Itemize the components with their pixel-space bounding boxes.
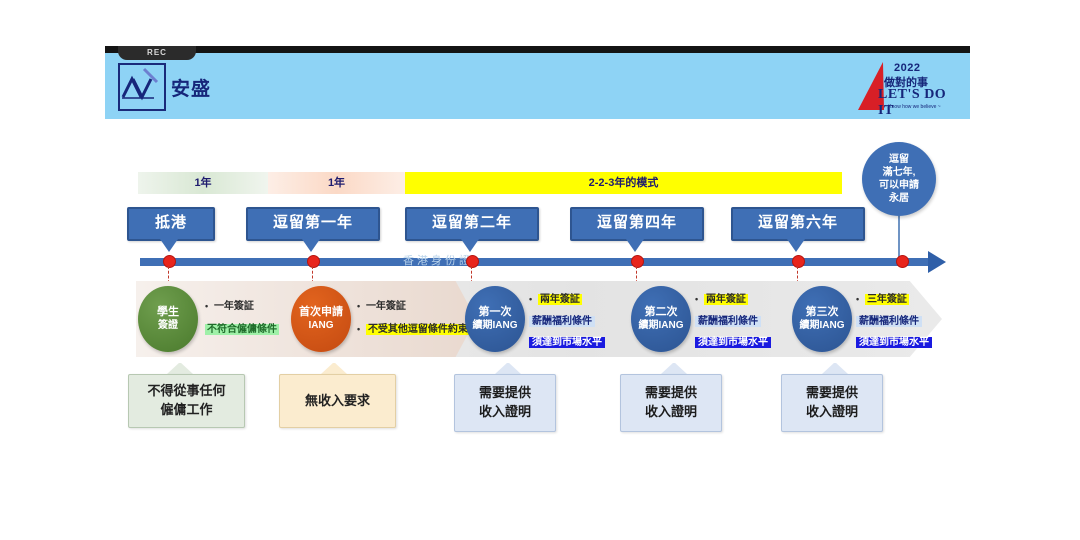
phase-3-bullet-3: 須達到市場水平	[529, 333, 605, 348]
phase-4-bullet-2: 薪酬福利條件	[695, 312, 761, 327]
phase-ellipse-3-line1: 第一次	[479, 306, 512, 320]
phase-1-bullet-2: 不符合僱傭條件	[205, 320, 279, 335]
phase-1-bullet-1-text: 一年簽証	[214, 301, 254, 312]
phase-1-bullet-1: • 一年簽証	[205, 297, 254, 312]
phase-ellipse-5-line1: 第三次	[806, 306, 839, 320]
phase-ellipse-2-line1: 首次申請	[299, 306, 343, 320]
bullet-dot-icon: •	[205, 301, 208, 311]
phase-2-bullet-1: • 一年簽証	[357, 297, 406, 312]
bullet-dot-icon: •	[695, 294, 698, 304]
bullet-dot-icon: •	[357, 301, 360, 311]
callout-2: 無收入要求	[279, 374, 396, 428]
phase-5-bullet-1-text: 三年簽証	[865, 294, 909, 305]
phase-ellipse-1-line1: 學生	[157, 306, 179, 320]
milestone-box-3[interactable]: 逗留第二年	[405, 207, 539, 241]
phase-4-bullet-1: • 兩年簽証	[695, 290, 748, 305]
phase-2-bullet-1-text: 一年簽証	[366, 301, 406, 312]
slide-canvas: REC 安盛 2022 做對的事 LET'S DO IT ~ Know how …	[0, 0, 1080, 540]
year-segment-2: 1年	[268, 172, 405, 194]
year-segment-3-label: 2-2-3年的模式	[405, 172, 842, 194]
final-circle-line-1: 逗留	[889, 153, 909, 166]
timeline-dot-4	[631, 255, 644, 268]
year-segment-3: 2-2-3年的模式	[405, 172, 842, 194]
timeline-arrowhead-icon	[928, 251, 946, 273]
phase-ellipse-5[interactable]: 第三次 續期IANG	[792, 286, 852, 352]
timeline-axis	[140, 258, 930, 266]
milestone-arrow-3-icon	[461, 239, 479, 252]
phase-3-bullet-1-text: 兩年簽証	[538, 294, 582, 305]
callout-5: 需要提供 收入證明	[781, 374, 883, 432]
milestone-arrow-4-icon	[626, 239, 644, 252]
phase-3-bullet-1: • 兩年簽証	[529, 290, 582, 305]
recording-top-strip	[105, 46, 970, 53]
final-circle-line-2: 滿七年,	[883, 166, 916, 179]
callout-1: 不得從事任何 僱傭工作	[128, 374, 245, 428]
phase-ellipse-2[interactable]: 首次申請 IANG	[291, 286, 351, 352]
phase-4-bullet-3: 須達到市場水平	[695, 333, 771, 348]
phase-5-bullet-3: 須達到市場水平	[856, 333, 932, 348]
callout-3-line-2: 收入證明	[479, 403, 531, 422]
year-segment-1-label: 1年	[138, 172, 268, 194]
timeline-dot-2	[307, 255, 320, 268]
phase-3-bullet-2: 薪酬福利條件	[529, 312, 595, 327]
phase-5-bullet-1: • 三年簽証	[856, 290, 909, 305]
final-circle: 逗留 滿七年, 可以申請 永居	[862, 142, 936, 216]
year-segment-1: 1年	[138, 172, 268, 194]
campaign-slogan-en: LET'S DO IT	[878, 87, 962, 119]
phase-ellipse-1-line2: 簽證	[158, 320, 178, 333]
phase-ellipse-3[interactable]: 第一次 續期IANG	[465, 286, 525, 352]
recording-badge: REC	[118, 46, 196, 60]
slide-header: 安盛 2022 做對的事 LET'S DO IT ~ Know how we b…	[105, 52, 970, 119]
phase-5-bullet-3-text: 須達到市場水平	[856, 337, 932, 348]
milestone-box-2[interactable]: 逗留第一年	[246, 207, 380, 241]
callout-4-line-2: 收入證明	[645, 403, 697, 422]
callout-3-line-1: 需要提供	[479, 384, 531, 403]
phase-3-bullet-3-text: 須達到市場水平	[529, 337, 605, 348]
phase-2-bullet-2: • 不受其他逗留條件約束	[357, 320, 470, 335]
final-circle-line-3: 可以申請	[879, 179, 919, 192]
bullet-dot-icon: •	[856, 294, 859, 304]
axa-logo-icon	[118, 63, 166, 111]
phase-3-bullet-2-text: 薪酬福利條件	[529, 316, 595, 327]
callout-4-line-1: 需要提供	[645, 384, 697, 403]
phase-4-bullet-1-text: 兩年簽証	[704, 294, 748, 305]
callout-5-line-2: 收入證明	[806, 403, 858, 422]
phase-ellipse-5-line2: 續期IANG	[800, 320, 845, 333]
final-circle-line-4: 永居	[889, 192, 909, 205]
milestone-box-4[interactable]: 逗留第四年	[570, 207, 704, 241]
timeline-dot-1	[163, 255, 176, 268]
milestone-box-5[interactable]: 逗留第六年	[731, 207, 865, 241]
callout-4: 需要提供 收入證明	[620, 374, 722, 432]
campaign-tagline: ~ Know how we believe ~	[884, 104, 941, 110]
callout-5-line-1: 需要提供	[806, 384, 858, 403]
milestone-box-1[interactable]: 抵港	[127, 207, 215, 241]
timeline-dot-3	[466, 255, 479, 268]
milestone-arrow-2-icon	[302, 239, 320, 252]
phase-2-bullet-2-text: 不受其他逗留條件約束	[366, 324, 470, 335]
phase-1-bullet-2-text: 不符合僱傭條件	[205, 324, 279, 335]
callout-1-line-2: 僱傭工作	[160, 401, 212, 420]
callout-2-line-1: 無收入要求	[305, 392, 370, 411]
phase-ellipse-3-line2: 續期IANG	[473, 320, 518, 333]
phase-ellipse-4[interactable]: 第二次 續期IANG	[631, 286, 691, 352]
final-circle-stem	[898, 216, 900, 258]
timeline-watermark: 香港身份證	[403, 252, 473, 268]
phase-ellipse-4-line2: 續期IANG	[639, 320, 684, 333]
timeline-dot-5	[792, 255, 805, 268]
milestone-arrow-5-icon	[787, 239, 805, 252]
phase-ellipse-4-line1: 第二次	[645, 306, 678, 320]
milestone-arrow-1-icon	[160, 239, 178, 252]
phase-4-bullet-3-text: 須達到市場水平	[695, 337, 771, 348]
campaign-year: 2022	[894, 62, 920, 74]
brand-name: 安盛	[171, 74, 211, 101]
phase-ellipse-2-line2: IANG	[309, 320, 334, 333]
bullet-dot-icon: •	[357, 324, 360, 334]
callout-3: 需要提供 收入證明	[454, 374, 556, 432]
phase-ellipse-1[interactable]: 學生 簽證	[138, 286, 198, 352]
bullet-dot-icon: •	[529, 294, 532, 304]
timeline-dot-6	[896, 255, 909, 268]
presentation-slide: 安盛 2022 做對的事 LET'S DO IT ~ Know how we b…	[105, 52, 970, 476]
campaign-logo: 2022 做對的事 LET'S DO IT ~ Know how we beli…	[862, 60, 962, 112]
year-segment-2-label: 1年	[268, 172, 405, 194]
phase-4-bullet-2-text: 薪酬福利條件	[695, 316, 761, 327]
phase-5-bullet-2: 薪酬福利條件	[856, 312, 922, 327]
phase-5-bullet-2-text: 薪酬福利條件	[856, 316, 922, 327]
callout-1-line-1: 不得從事任何	[147, 382, 225, 401]
